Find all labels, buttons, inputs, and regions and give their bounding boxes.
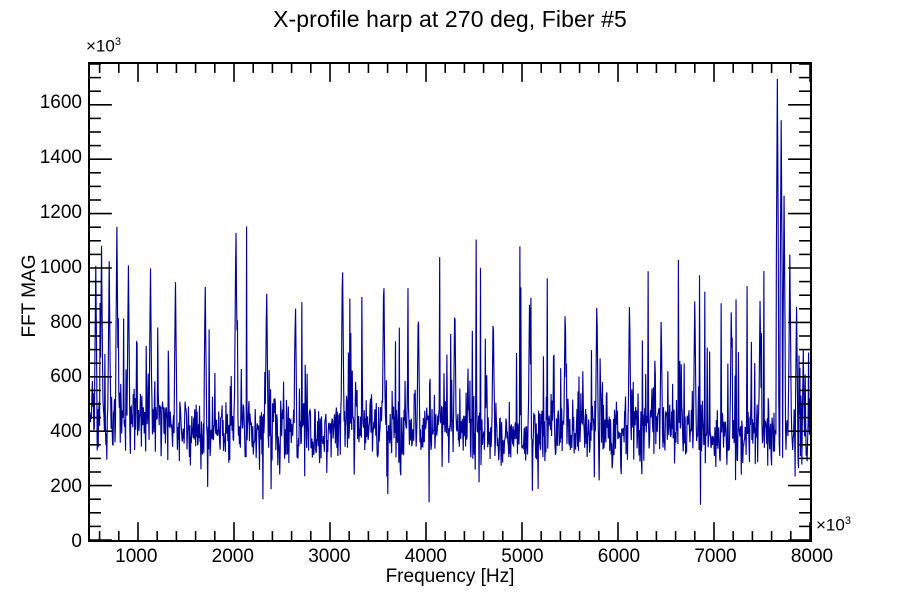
plot-canvas <box>90 64 810 540</box>
y-tick-label: 1200 <box>22 203 82 222</box>
x-tick-label: 6000 <box>574 546 664 568</box>
y-tick-label: 0 <box>22 532 82 551</box>
y-tick-label: 600 <box>22 367 82 386</box>
chart-title: X-profile harp at 270 deg, Fiber #5 <box>0 6 900 33</box>
x-tick-label: 1000 <box>91 546 181 568</box>
y-tick-label: 1400 <box>22 148 82 167</box>
x-tick-label: 5000 <box>477 546 567 568</box>
x-tick-label: 4000 <box>381 546 471 568</box>
y-axis-exponent: ×103 <box>86 36 121 57</box>
plot-frame <box>88 62 812 542</box>
x-axis-title: Frequency [Hz] <box>0 566 900 588</box>
fft-spectrum-trace <box>90 79 810 505</box>
y-axis-title: FFT MAG <box>19 236 41 356</box>
x-tick-label: 3000 <box>284 546 374 568</box>
x-tick-label: 8000 <box>767 546 857 568</box>
chart-root: X-profile harp at 270 deg, Fiber #5 ×103… <box>0 0 900 600</box>
y-tick-label: 400 <box>22 422 82 441</box>
x-tick-label: 2000 <box>188 546 278 568</box>
y-tick-label: 1600 <box>22 93 82 112</box>
y-tick-label: 200 <box>22 477 82 496</box>
x-tick-label: 7000 <box>670 546 760 568</box>
x-axis-exponent: ×103 <box>816 515 851 536</box>
